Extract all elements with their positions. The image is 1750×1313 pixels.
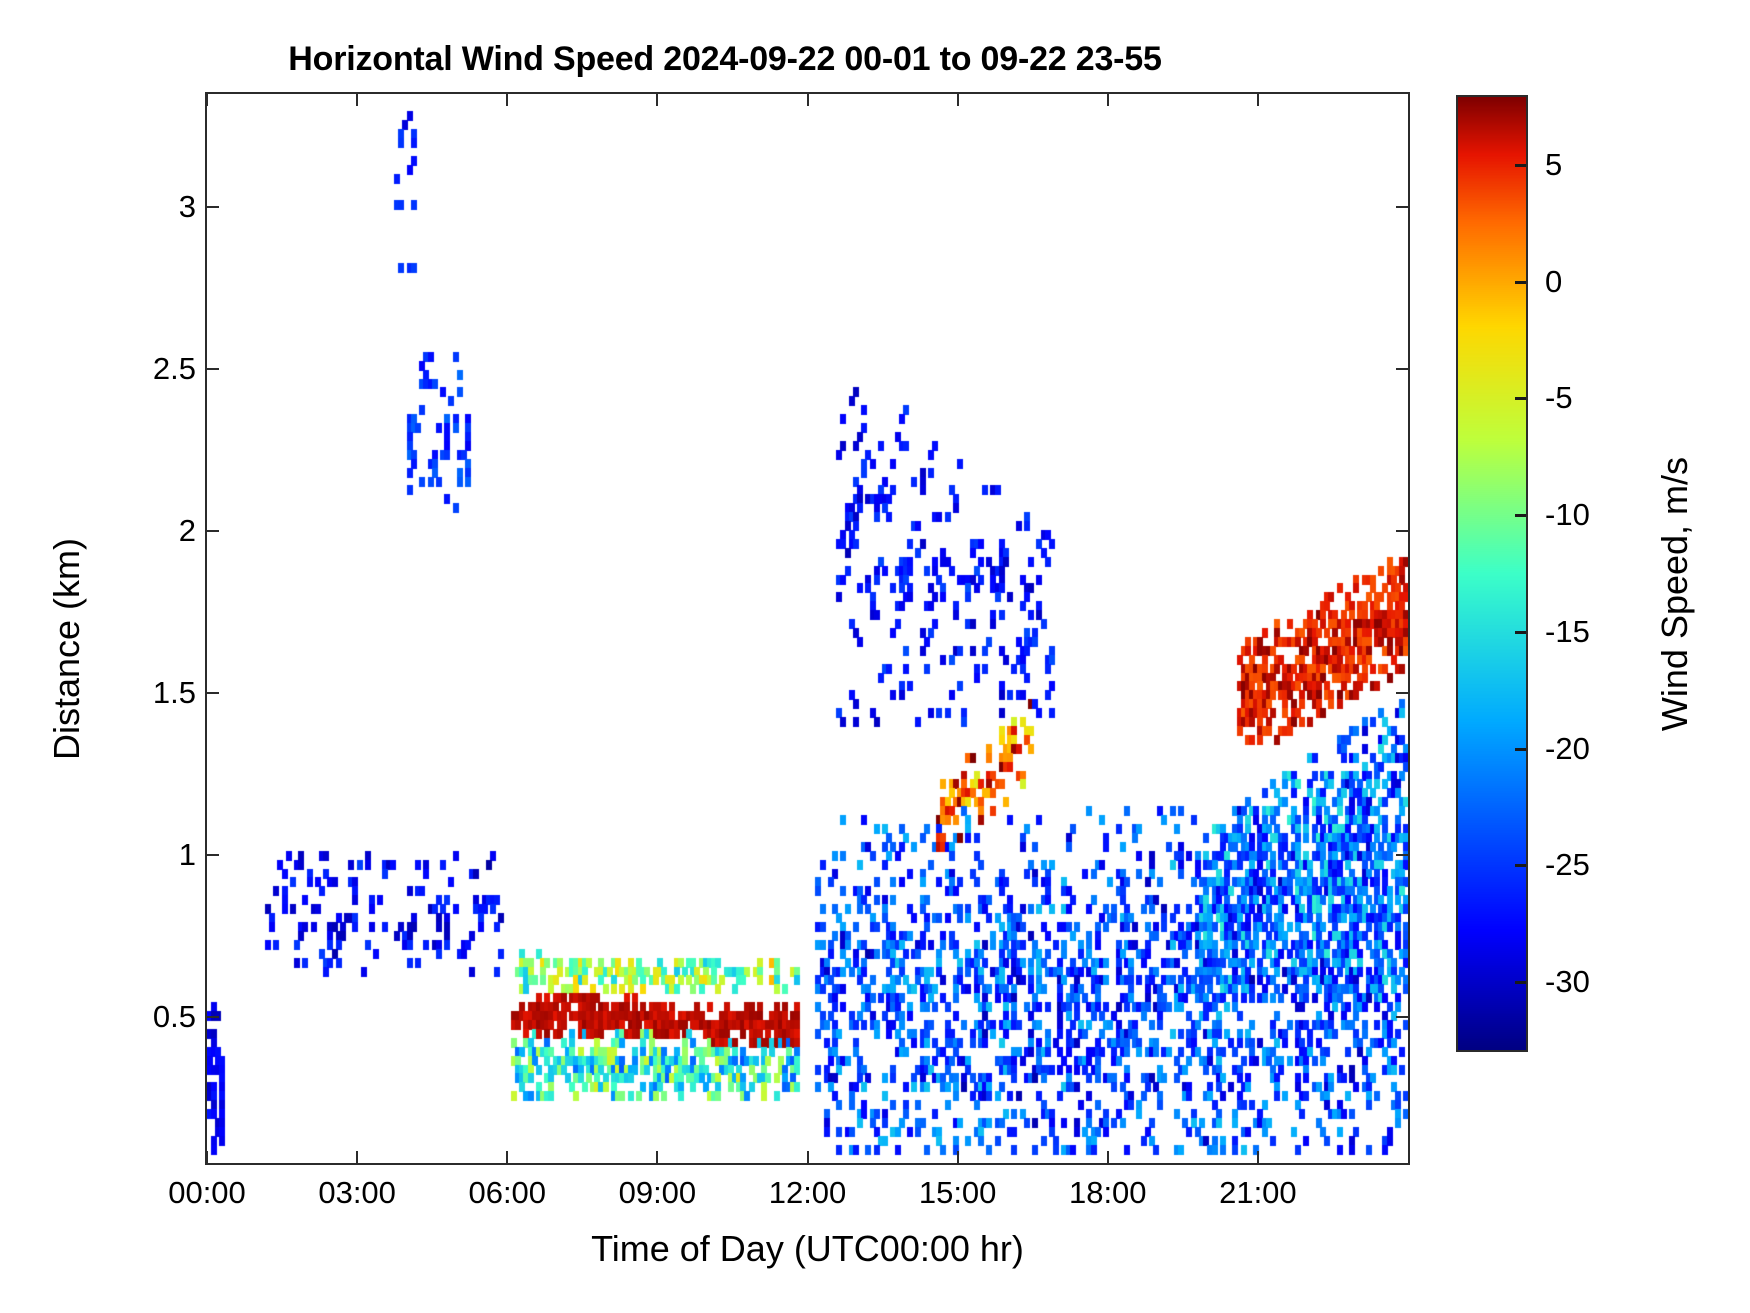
y-axis-tick (207, 368, 219, 370)
y-axis-tick-label: 1 (179, 837, 196, 873)
y-axis-tick-label: 2 (179, 513, 196, 549)
colorbar-tick-label: -25 (1545, 847, 1590, 883)
colorbar-tick (1515, 981, 1526, 984)
x-axis-tick (1107, 94, 1109, 106)
colorbar-tick-label: 0 (1545, 264, 1562, 300)
colorbar-tick (1515, 281, 1526, 284)
x-axis-tick (206, 1151, 208, 1163)
y-axis-tick (1396, 1016, 1408, 1018)
x-axis-tick-label: 18:00 (1069, 1175, 1147, 1211)
y-axis-tick (207, 1016, 219, 1018)
y-axis-tick (1396, 206, 1408, 208)
x-axis-tick (506, 1151, 508, 1163)
x-axis-tick-label: 15:00 (919, 1175, 997, 1211)
y-axis-tick-label: 2.5 (153, 351, 196, 387)
x-axis-tick (506, 94, 508, 106)
x-axis-tick (1257, 1151, 1259, 1163)
x-axis-tick-label: 12:00 (769, 1175, 847, 1211)
colorbar-tick (1515, 397, 1526, 400)
wind-speed-heatmap-figure: Horizontal Wind Speed 2024-09-22 00-01 t… (0, 0, 1750, 1313)
y-axis-tick-label: 1.5 (153, 675, 196, 711)
y-axis-title: Distance (km) (46, 339, 88, 959)
y-axis-tick (207, 692, 219, 694)
colorbar-tick-label: -15 (1545, 614, 1590, 650)
x-axis-tick-label: 00:00 (168, 1175, 246, 1211)
x-axis-tick (1257, 94, 1259, 106)
colorbar-tick-label: -20 (1545, 731, 1590, 767)
colorbar-tick-label: -10 (1545, 497, 1590, 533)
y-axis-tick (207, 530, 219, 532)
colorbar-tick-label: -5 (1545, 380, 1573, 416)
x-axis-tick (356, 1151, 358, 1163)
y-axis-tick-label: 0.5 (153, 999, 196, 1035)
colorbar-tick (1515, 864, 1526, 867)
x-axis-tick-label: 21:00 (1219, 1175, 1297, 1211)
colorbar-title: Wind Speed, m/s (1654, 264, 1696, 924)
x-axis-tick (656, 1151, 658, 1163)
x-axis-tick (206, 94, 208, 106)
colorbar-tick (1515, 514, 1526, 517)
colorbar-gradient (1458, 97, 1526, 1050)
x-axis-tick (807, 94, 809, 106)
x-axis-tick (356, 94, 358, 106)
colorbar-tick-label: 5 (1545, 147, 1562, 183)
x-axis-tick (1107, 1151, 1109, 1163)
colorbar (1456, 95, 1528, 1052)
x-axis-tick-label: 09:00 (619, 1175, 697, 1211)
y-axis-tick (1396, 530, 1408, 532)
x-axis-tick-label: 03:00 (318, 1175, 396, 1211)
colorbar-tick-label: -30 (1545, 964, 1590, 1000)
y-axis-tick (207, 206, 219, 208)
x-axis-tick (656, 94, 658, 106)
page-title: Horizontal Wind Speed 2024-09-22 00-01 t… (0, 40, 1450, 79)
y-axis-tick (207, 854, 219, 856)
colorbar-tick (1515, 631, 1526, 634)
x-axis-tick (957, 1151, 959, 1163)
x-axis-title: Time of Day (UTC00:00 hr) (205, 1228, 1410, 1270)
colorbar-tick (1515, 164, 1526, 167)
plot-area (205, 92, 1410, 1165)
x-axis-tick-label: 06:00 (468, 1175, 546, 1211)
y-axis-tick (1396, 368, 1408, 370)
colorbar-tick (1515, 748, 1526, 751)
y-axis-tick-label: 3 (179, 189, 196, 225)
x-axis-tick (957, 94, 959, 106)
y-axis-tick (1396, 692, 1408, 694)
y-axis-tick (1396, 854, 1408, 856)
x-axis-tick (807, 1151, 809, 1163)
heatmap-canvas (207, 94, 1408, 1163)
